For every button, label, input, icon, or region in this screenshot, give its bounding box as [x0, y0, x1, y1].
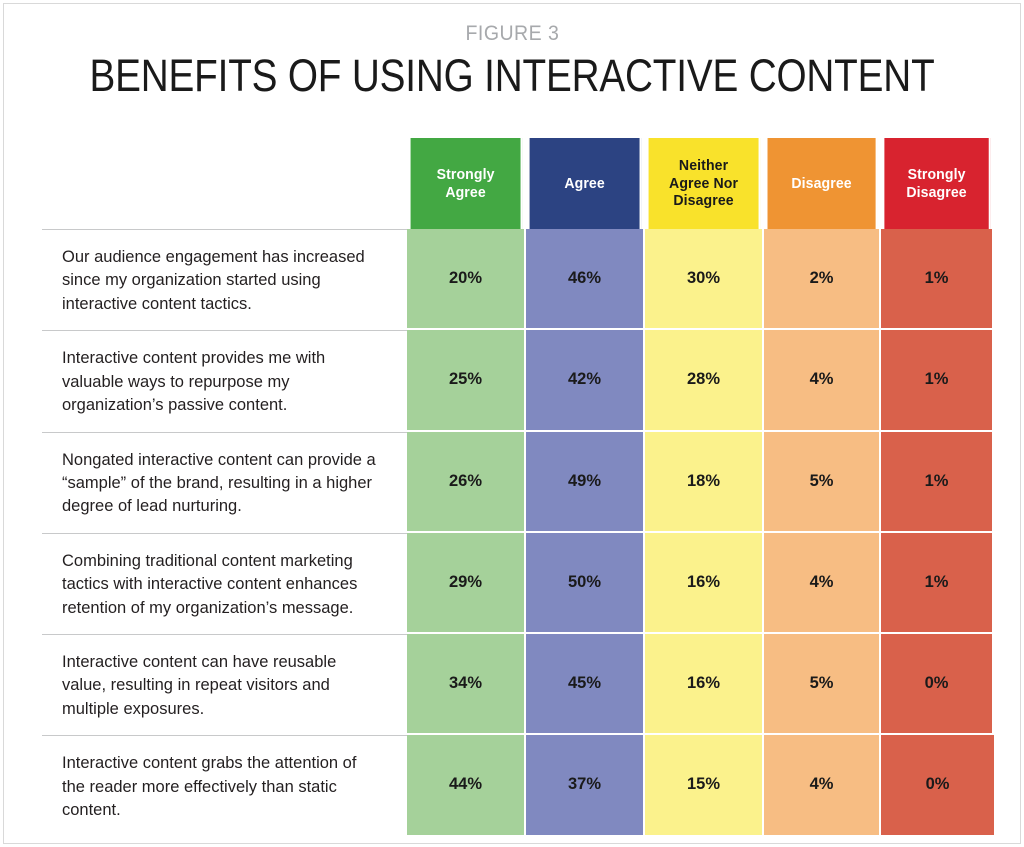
- column-header-neither-agree-nor-disagree: NeitherAgree NorDisagree: [649, 138, 761, 229]
- data-cell-agree: 42%: [526, 330, 645, 431]
- data-cell-strongly-disagree: 0%: [881, 735, 994, 836]
- data-cell-disagree: 5%: [764, 432, 881, 533]
- figure-header: FIGURE 3 BENEFITS OF USING INTERACTIVE C…: [4, 22, 1020, 99]
- data-cell-strongly-agree: 20%: [407, 229, 526, 330]
- statement-label: Interactive content can have reusable va…: [42, 634, 407, 735]
- data-cell-strongly-disagree: 1%: [881, 432, 994, 533]
- data-cell-strongly-agree: 34%: [407, 634, 526, 735]
- data-cell-disagree: 5%: [764, 634, 881, 735]
- column-header-disagree: Disagree: [768, 138, 878, 229]
- statement-label: Combining traditional content marketing …: [42, 533, 407, 634]
- data-cell-strongly-disagree: 1%: [881, 533, 994, 634]
- statement-label: Our audience engagement has increased si…: [42, 229, 407, 330]
- data-cell-strongly-agree: 25%: [407, 330, 526, 431]
- data-cell-agree: 49%: [526, 432, 645, 533]
- data-cell-neither-agree-nor-disagree: 28%: [645, 330, 764, 431]
- page-title: BENEFITS OF USING INTERACTIVE CONTENT: [75, 52, 949, 99]
- survey-matrix-table: StronglyAgreeAgreeNeitherAgree NorDisagr…: [42, 138, 994, 837]
- data-cell-neither-agree-nor-disagree: 16%: [645, 533, 764, 634]
- column-header-label: Disagree: [791, 175, 851, 192]
- data-cell-strongly-disagree: 1%: [881, 229, 994, 330]
- data-cell-disagree: 4%: [764, 533, 881, 634]
- data-cell-strongly-agree: 26%: [407, 432, 526, 533]
- data-cell-agree: 37%: [526, 735, 645, 836]
- data-cell-agree: 50%: [526, 533, 645, 634]
- data-cell-disagree: 4%: [764, 735, 881, 836]
- data-cell-agree: 46%: [526, 229, 645, 330]
- data-cell-strongly-agree: 29%: [407, 533, 526, 634]
- statement-label: Interactive content provides me with val…: [42, 330, 407, 431]
- data-cell-neither-agree-nor-disagree: 18%: [645, 432, 764, 533]
- column-header-label: StronglyAgree: [437, 166, 495, 201]
- data-cell-neither-agree-nor-disagree: 15%: [645, 735, 764, 836]
- figure-frame: FIGURE 3 BENEFITS OF USING INTERACTIVE C…: [3, 3, 1021, 844]
- column-header-label: Agree: [564, 175, 604, 192]
- data-cell-neither-agree-nor-disagree: 30%: [645, 229, 764, 330]
- data-cell-agree: 45%: [526, 634, 645, 735]
- statement-label: Nongated interactive content can provide…: [42, 432, 407, 533]
- header-corner-spacer: [42, 138, 407, 229]
- statement-label: Interactive content grabs the attention …: [42, 735, 407, 836]
- data-cell-strongly-disagree: 1%: [881, 330, 994, 431]
- data-cell-neither-agree-nor-disagree: 16%: [645, 634, 764, 735]
- data-cell-strongly-agree: 44%: [407, 735, 526, 836]
- matrix-grid: StronglyAgreeAgreeNeitherAgree NorDisagr…: [42, 138, 994, 837]
- column-header-strongly-agree: StronglyAgree: [411, 138, 523, 229]
- column-header-agree: Agree: [530, 138, 642, 229]
- data-cell-strongly-disagree: 0%: [881, 634, 994, 735]
- column-header-label: NeitherAgree NorDisagree: [669, 157, 738, 209]
- figure-label: FIGURE 3: [465, 22, 559, 46]
- column-header-label: StronglyDisagree: [906, 166, 966, 201]
- data-cell-disagree: 2%: [764, 229, 881, 330]
- column-header-strongly-disagree: StronglyDisagree: [884, 138, 990, 229]
- data-cell-disagree: 4%: [764, 330, 881, 431]
